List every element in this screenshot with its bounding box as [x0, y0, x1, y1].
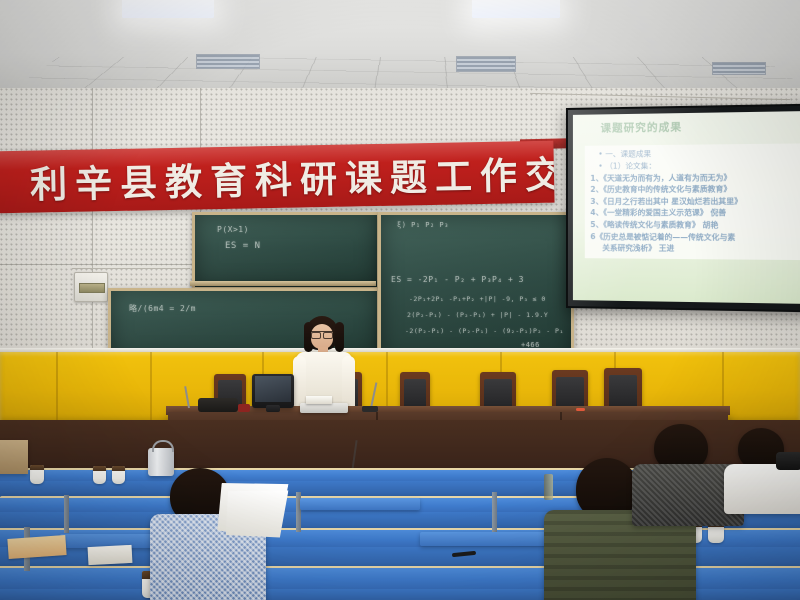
chalk-line: -2P₁+2P₁ -P₁+P₂ +|P| -9, P₃ ≤ 0 [409, 295, 546, 303]
slide-line: 5、《略读传统文化与素质教育》 胡艳 [584, 219, 800, 232]
cardboard-box [0, 440, 28, 474]
glasses-icon [311, 331, 333, 337]
projection-screen-surface: 课题研究的成果 • 一、课题成果 • （1）论文集： 1、《天道无为而有为，人道… [573, 111, 800, 304]
paper-cup[interactable] [93, 466, 106, 484]
chalk-line: 2(P₂-P₁) - (P₂-P₁) + |P| - 1.9.Y [407, 311, 548, 319]
blackboard-left-upper: P(X>1) ES = N [192, 212, 380, 290]
wainscot-seam [56, 352, 58, 422]
attendee-back-right [724, 428, 800, 514]
desk-leg [492, 492, 497, 532]
chalk-line: -2(P₂-P₁) - (P₂-P₁) - (9₂-P₁)P₂ - P₁ [405, 327, 564, 335]
podium-indicator-light [576, 408, 585, 411]
laptop[interactable] [300, 403, 348, 413]
wainscot-seam [150, 352, 152, 422]
event-banner: 利辛县教育科研课题工作交 [0, 141, 555, 214]
slide-line: 3、《日月之行若出其中 星汉灿烂若出其里》 [584, 195, 800, 207]
bag-on-back-desk[interactable] [776, 452, 800, 470]
lecture-hall-photo: 利辛县教育科研课题工作交 P(X>1) ES = N 略/(6m4 = 2/m … [0, 0, 800, 600]
ceiling-light-panel [472, 0, 560, 18]
monitor-screen [255, 376, 291, 402]
presenter-hair-right [335, 322, 344, 352]
wall-panel-seam [92, 88, 93, 358]
wall-conduit-wire [72, 268, 190, 269]
ceiling [0, 0, 800, 96]
chair-pad [556, 377, 583, 410]
chalk-line: ES = N [225, 241, 261, 251]
slide-line: 4、《一堂精彩的爱国主义示范课》 倪善 [584, 207, 800, 219]
control-box-display [79, 283, 104, 294]
bag-on-podium [198, 398, 238, 412]
chalk-line: ξ) P₁ P₂ P₃ [397, 221, 449, 229]
slide-body: • 一、课题成果 • （1）论文集： 1、《天道无为而有为，人道有为而无为》 2… [584, 144, 800, 260]
wall-control-box[interactable] [74, 272, 108, 302]
projection-screen: 课题研究的成果 • 一、课题成果 • （1）论文集： 1、《天道无为而有为，人道… [566, 104, 800, 313]
thermos-handle [152, 440, 174, 452]
monitor[interactable] [252, 374, 294, 408]
monitor-stand [266, 405, 280, 412]
held-papers[interactable] [223, 483, 288, 541]
slide-title: 课题研究的成果 [600, 117, 800, 135]
attendee-torso [724, 464, 800, 514]
ceiling-air-vent [456, 56, 516, 72]
chair-pad [609, 375, 638, 409]
audience-seat[interactable] [300, 498, 420, 510]
ceiling-air-vent [196, 54, 260, 69]
slide-line: 关系研究浅析》 王进 [584, 242, 800, 255]
slide-line: 2、《历史教育中的传统文化与素质教育》 [584, 183, 800, 196]
microphone-base[interactable] [362, 406, 378, 412]
slide-line: 1、《天道无为而有为，人道有为而无为》 [584, 171, 800, 184]
document-stack[interactable] [88, 545, 133, 565]
chalk-line: P(X>1) [217, 225, 249, 234]
ceiling-air-vent [712, 62, 766, 75]
ceiling-light-panel [122, 0, 214, 18]
chalk-line: 略/(6m4 = 2/m [129, 303, 196, 314]
blackboard-right: ξ) P₁ P₂ P₃ ES = -2P₁ - P₂ + P₃P₄ + 3 -2… [378, 212, 574, 364]
chalk-line: ES = -2P₁ - P₂ + P₃P₄ + 3 [391, 275, 524, 284]
paper-cup[interactable] [30, 465, 44, 484]
paper-cup[interactable] [112, 466, 125, 484]
red-item-on-podium [238, 404, 250, 412]
chalk-tray [190, 281, 376, 286]
papers-on-podium [306, 396, 332, 404]
document-stack-colored[interactable] [7, 535, 66, 559]
desk-leg [64, 495, 69, 533]
